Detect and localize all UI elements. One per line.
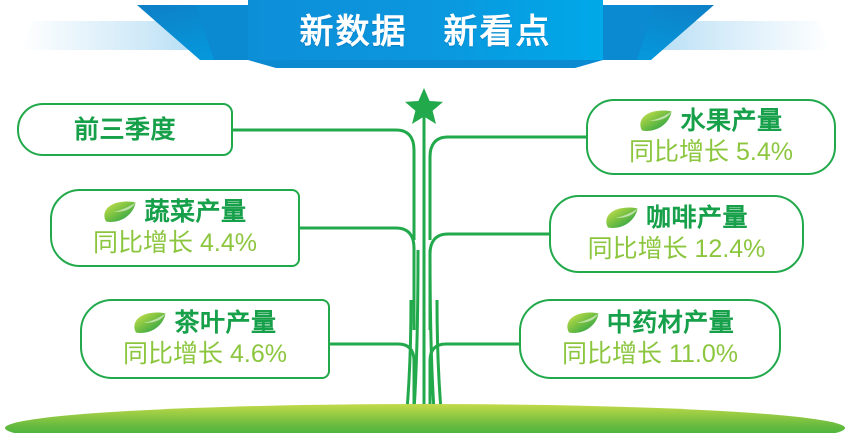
callout-title: 水果产量 [680,106,782,136]
callout-title-row: 茶叶产量 [133,308,276,338]
callout-title: 咖啡产量 [646,203,748,233]
callout-metric: 同比增长 4.4% [93,228,257,259]
callout-tea-output[interactable]: 茶叶产量 同比增长 4.6% [80,299,330,379]
leaf-icon [566,311,600,335]
callout-title-row: 咖啡产量 [605,203,748,233]
callout-herb-output[interactable]: 中药材产量 同比增长 11.0% [519,299,781,379]
callout-title: 蔬菜产量 [144,197,246,227]
header-banner: 新数据 新看点 [0,0,851,76]
callout-title-row: 中药材产量 [566,308,735,338]
callout-metric: 同比增长 4.6% [123,339,287,370]
page-title: 新数据 新看点 [0,9,851,55]
callout-metric: 同比增长 5.4% [629,137,793,168]
callout-title-row: 蔬菜产量 [103,197,246,227]
callout-title-row: 前三季度 [74,115,176,145]
callout-metric: 同比增长 12.4% [588,234,766,265]
callout-fruit-output[interactable]: 水果产量 同比增长 5.4% [586,99,836,175]
callout-period-label[interactable]: 前三季度 [17,103,233,156]
callout-metric: 同比增长 11.0% [562,339,738,370]
callout-title: 中药材产量 [607,308,735,338]
callout-title: 前三季度 [74,115,176,145]
infographic-canvas: 新数据 新看点 [0,0,851,433]
callout-title: 茶叶产量 [174,308,276,338]
ground-ellipse [5,404,845,433]
star-icon [405,88,443,124]
callout-coffee-output[interactable]: 咖啡产量 同比增长 12.4% [549,195,804,273]
leaf-icon [605,206,639,230]
leaf-icon [103,200,137,224]
leaf-icon [133,311,167,335]
callout-vegetable-output[interactable]: 蔬菜产量 同比增长 4.4% [50,189,300,267]
callout-title-row: 水果产量 [639,106,782,136]
leaf-icon [639,109,673,133]
